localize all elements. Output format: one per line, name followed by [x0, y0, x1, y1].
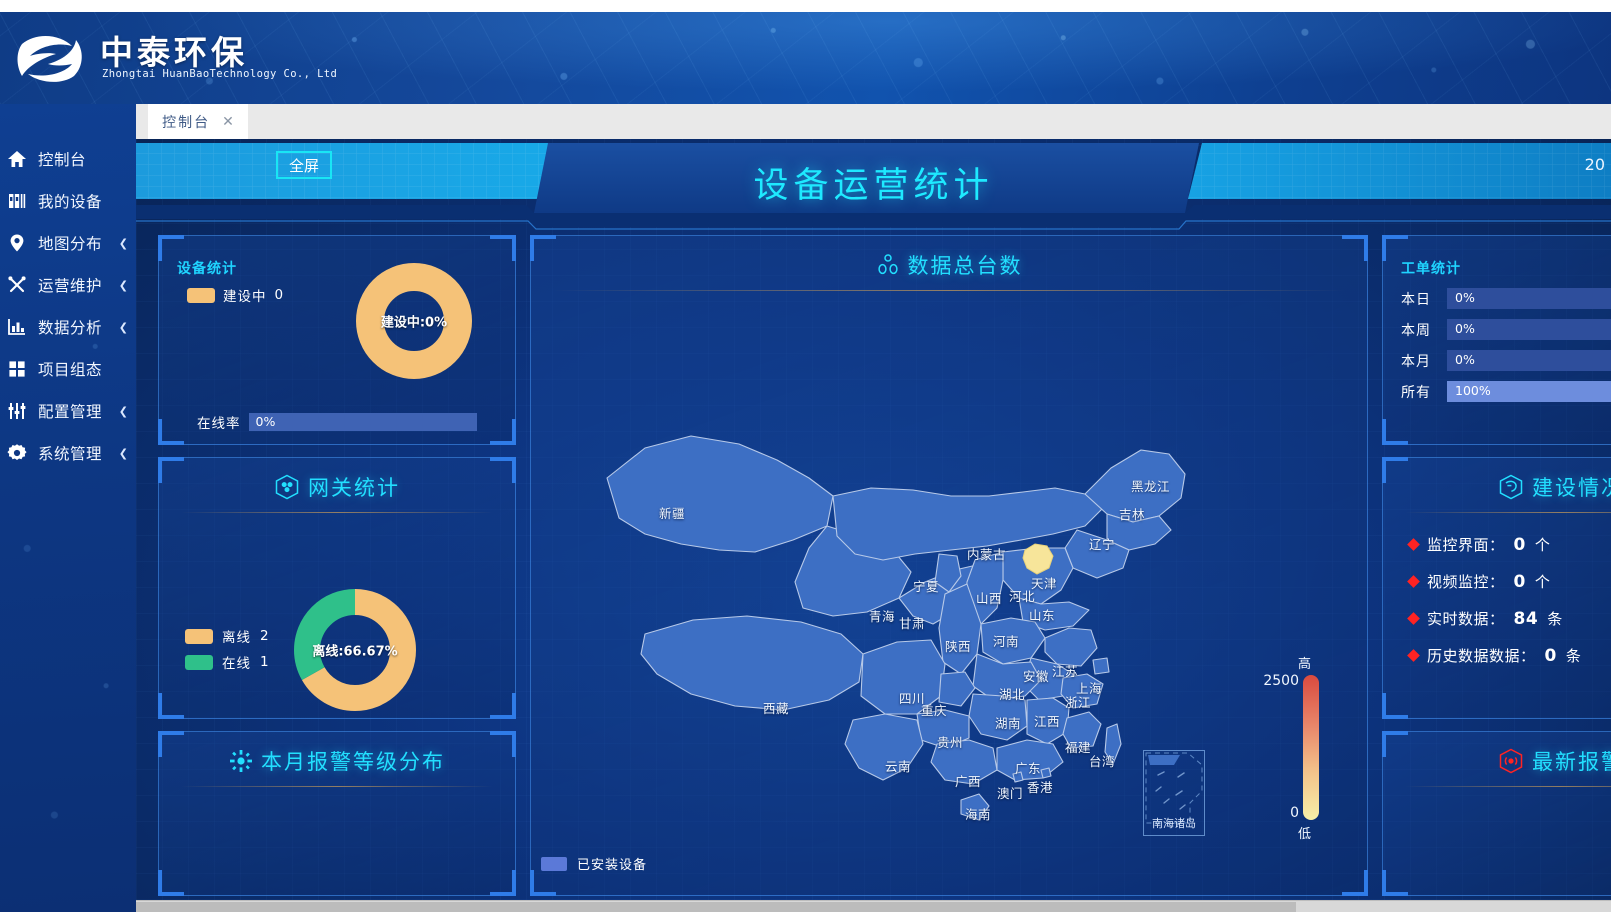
sidebar-item-ops-maintenance[interactable]: 运营维护 ❮ — [0, 264, 136, 306]
china-map-area[interactable]: 新疆黑龙江吉林辽宁内蒙古天津宁夏山西河北青海甘肃山东河南陕西安徽江苏上海西藏四川… — [531, 288, 1367, 895]
build-item-unit: 条 — [1566, 645, 1582, 666]
scale-low-label: 低 — [1298, 823, 1311, 842]
latest-alarm-panel: 最新报警 — [1382, 731, 1611, 896]
build-item: 实时数据： 84 条 — [1409, 608, 1581, 629]
scale-max-value: 2500 — [1263, 673, 1299, 689]
diamond-bullet-icon — [1407, 649, 1420, 662]
legend-label: 在线 — [222, 652, 251, 672]
chevron-icon: ❮ — [119, 279, 128, 292]
home-icon — [6, 148, 28, 170]
scale-gradient-bar — [1303, 675, 1319, 820]
tab-strip: ☰ 控制台 ✕ — [136, 104, 1611, 139]
chevron-icon: ❮ — [119, 321, 128, 334]
grid-icon — [6, 358, 28, 380]
header-banner-graphic — [136, 143, 1611, 231]
sidebar-item-data-analysis[interactable]: 数据分析 ❮ — [0, 306, 136, 348]
close-icon[interactable]: ✕ — [222, 114, 234, 130]
nanhai-inset-label: 南海诸岛 — [1144, 815, 1204, 831]
corner-decoration — [1382, 693, 1408, 719]
sidebar-label: 运营维护 — [38, 274, 109, 296]
work-order-row[interactable]: 本日 0% — [1401, 288, 1611, 309]
corner-decoration — [158, 731, 184, 757]
sidebar-label: 控制台 — [38, 148, 109, 170]
nanhai-inset: 南海诸岛 — [1143, 750, 1205, 836]
gear-icon — [6, 442, 28, 464]
scale-high-label: 高 — [1298, 653, 1311, 672]
work-order-title: 工单统计 — [1401, 258, 1611, 278]
map-panel: 数据总台数 — [530, 235, 1368, 896]
legend-value: 0 — [275, 287, 285, 303]
online-rate-label: 在线率 — [197, 412, 241, 432]
sidebar-label: 系统管理 — [38, 442, 109, 464]
work-order-panel: 工单统计 本日 0% 本周 0% 本月 0% 所有 — [1382, 235, 1611, 445]
diamond-bullet-icon — [1407, 575, 1420, 588]
diamond-bullet-icon — [1407, 538, 1420, 551]
online-rate-value: 0% — [256, 414, 276, 429]
sidebar-label: 我的设备 — [38, 190, 109, 212]
build-item-unit: 个 — [1535, 534, 1551, 555]
online-rate-bar: 0% — [249, 413, 477, 431]
device-donut-chart[interactable]: 建设中:0% — [355, 262, 473, 380]
corner-decoration — [1382, 457, 1408, 483]
tools-icon — [6, 274, 28, 296]
build-item-unit: 条 — [1547, 608, 1563, 629]
legend-value: 1 — [260, 654, 270, 670]
sliders-icon — [6, 400, 28, 422]
gateway-panel-title: 网关统计 — [308, 472, 400, 502]
tab-console[interactable]: 控制台 ✕ — [148, 104, 248, 139]
work-order-key: 本月 — [1401, 351, 1439, 371]
corner-decoration — [490, 457, 516, 483]
sidebar-item-map-distribution[interactable]: 地图分布 ❮ — [0, 222, 136, 264]
work-order-key: 所有 — [1401, 382, 1439, 402]
alarm-level-title-row: 本月报警等级分布 — [159, 732, 515, 776]
legend-item[interactable]: 离线 2 — [185, 626, 270, 646]
map-panel-title: 数据总台数 — [908, 250, 1023, 280]
legend-color-chip — [185, 629, 213, 644]
sidebar-item-my-devices[interactable]: 我的设备 ❮ — [0, 180, 136, 222]
sidebar: 控制台 ❮ 我的设备 ❮ 地图分布 ❮ 运营维护 ❮ 数据分析 ❮ 项目组态 — [0, 104, 136, 912]
corner-decoration — [490, 693, 516, 719]
work-order-value: 0% — [1455, 352, 1475, 367]
work-order-key: 本日 — [1401, 289, 1439, 309]
legend-value: 2 — [260, 628, 270, 644]
chevron-icon: ❮ — [119, 405, 128, 418]
corner-decoration — [158, 693, 184, 719]
sidebar-item-system-management[interactable]: 系统管理 ❮ — [0, 432, 136, 474]
alarm-level-panel: 本月报警等级分布 — [158, 731, 516, 896]
title-divider — [1405, 786, 1611, 787]
build-item-value: 0 — [1545, 646, 1557, 666]
work-order-header: 工单统计 本日 0% 本周 0% 本月 0% 所有 — [1401, 258, 1611, 402]
corner-decoration — [530, 235, 556, 261]
title-divider — [1405, 512, 1611, 513]
wave-leaf-logo-icon — [14, 26, 92, 88]
corner-decoration — [490, 731, 516, 757]
device-statistics-panel: 设备统计 建设中 0 建设中:0% 在线率 0% — [158, 235, 516, 445]
map-color-scale: 高 2500 0 低 — [1257, 653, 1357, 843]
corner-decoration — [158, 870, 184, 896]
title-divider — [181, 512, 493, 513]
device-stats-title: 设备统计 — [177, 258, 284, 278]
online-rate-row: 在线率 0% — [197, 412, 477, 432]
corner-decoration — [158, 419, 184, 445]
chevron-icon: ❮ — [119, 237, 128, 250]
corner-decoration — [490, 235, 516, 261]
build-item: 视频监控： 0 个 — [1409, 571, 1581, 592]
build-item: 监控界面： 0 个 — [1409, 534, 1581, 555]
build-item-label: 历史数据数据： — [1427, 645, 1536, 666]
corner-decoration — [490, 419, 516, 445]
build-panel-title: 建设情况 — [1532, 472, 1611, 502]
gateway-panel-title-row: 网关统计 — [159, 458, 515, 502]
work-order-bar: 100% — [1447, 381, 1611, 402]
sidebar-label: 配置管理 — [38, 400, 109, 422]
people-icon — [876, 253, 900, 277]
build-status-panel: 建设情况 监控界面： 0 个 视频监控： 0 个 实时数据： 84 条 — [1382, 457, 1611, 719]
horizontal-scrollbar[interactable] — [136, 900, 1611, 912]
sidebar-item-config-management[interactable]: 配置管理 ❮ — [0, 390, 136, 432]
gateway-donut-chart[interactable]: 离线:66.67% — [289, 584, 421, 716]
map-legend-label: 已安装设备 — [577, 854, 647, 873]
map-panel-title-row: 数据总台数 — [531, 236, 1367, 280]
device-icon — [6, 190, 28, 212]
build-panel-title-row: 建设情况 — [1383, 458, 1611, 502]
brand-name-en: Zhongtai HuanBaoTechnology Co., Ltd — [102, 68, 337, 80]
work-order-bar: 0% — [1447, 350, 1611, 371]
legend-color-chip — [187, 288, 215, 303]
work-order-value: 0% — [1455, 321, 1475, 336]
donut-center-label: 离线:66.67% — [289, 641, 421, 660]
work-order-value: 0% — [1455, 290, 1475, 305]
legend-item[interactable]: 建设中 0 — [177, 285, 284, 305]
scrollbar-thumb[interactable] — [136, 902, 1296, 912]
chevron-icon: ❮ — [119, 447, 128, 460]
build-item-value: 0 — [1514, 572, 1526, 592]
latest-alarm-title-row: 最新报警 — [1383, 732, 1611, 776]
build-item-label: 监控界面： — [1427, 534, 1505, 555]
corner-decoration — [1342, 235, 1368, 261]
gateway-legend: 离线 2 在线 1 — [185, 626, 270, 678]
work-order-row[interactable]: 本月 0% — [1401, 350, 1611, 371]
build-item-unit: 个 — [1535, 571, 1551, 592]
work-order-value: 100% — [1455, 383, 1491, 398]
build-item-label: 视频监控： — [1427, 571, 1505, 592]
sidebar-label: 地图分布 — [38, 232, 109, 254]
map-legend: 已安装设备 — [541, 854, 647, 873]
legend-label: 离线 — [222, 626, 251, 646]
browser-top-strip — [0, 0, 1611, 12]
company-logo: 中泰环保 Zhongtai HuanBaoTechnology Co., Ltd — [14, 26, 337, 88]
diamond-bullet-icon — [1407, 612, 1420, 625]
device-stats-header: 设备统计 建设中 0 — [177, 258, 284, 305]
build-item-value: 0 — [1514, 535, 1526, 555]
alarm-burst-icon — [229, 749, 253, 773]
tab-label: 控制台 — [162, 112, 210, 132]
work-order-row[interactable]: 本周 0% — [1401, 319, 1611, 340]
build-list: 监控界面： 0 个 视频监控： 0 个 实时数据： 84 条 历史数据数据： 0… — [1409, 534, 1581, 682]
build-item-value: 84 — [1514, 609, 1539, 629]
sidebar-label: 项目组态 — [38, 358, 109, 380]
latest-alarm-title: 最新报警 — [1532, 746, 1611, 776]
work-order-row[interactable]: 所有 100% — [1401, 381, 1611, 402]
brand-name-cn: 中泰环保 — [100, 34, 337, 72]
corner-decoration — [1382, 419, 1408, 445]
legend-color-chip — [541, 857, 567, 871]
work-order-key: 本周 — [1401, 320, 1439, 340]
hex-alarm-icon — [1498, 748, 1524, 774]
hex-gateway-icon — [274, 474, 300, 500]
corner-decoration — [490, 870, 516, 896]
header-datetime: 20 — [1585, 155, 1605, 174]
fullscreen-button[interactable]: 全屏 — [276, 151, 332, 179]
donut-center-label: 建设中:0% — [355, 312, 473, 331]
title-divider — [181, 786, 493, 787]
scale-min-value: 0 — [1290, 805, 1299, 821]
dashboard-canvas: 设备运营统计 20 全屏 设备统计 建设中 0 建设中:0% 在线率 0% — [136, 139, 1611, 900]
hex-build-icon — [1498, 474, 1524, 500]
corner-decoration — [1382, 731, 1408, 757]
build-item-label: 实时数据： — [1427, 608, 1505, 629]
legend-label: 建设中 — [223, 285, 267, 305]
corner-decoration — [158, 457, 184, 483]
alarm-level-title: 本月报警等级分布 — [261, 746, 445, 776]
gateway-statistics-panel: 网关统计 离线 2 在线 1 离线:66.67% — [158, 457, 516, 719]
bar-chart-icon — [6, 316, 28, 338]
work-order-bar: 0% — [1447, 319, 1611, 340]
company-banner: 中泰环保 Zhongtai HuanBaoTechnology Co., Ltd — [0, 12, 1611, 104]
sidebar-item-console[interactable]: 控制台 ❮ — [0, 138, 136, 180]
build-item: 历史数据数据： 0 条 — [1409, 645, 1581, 666]
work-order-bar: 0% — [1447, 288, 1611, 309]
sidebar-label: 数据分析 — [38, 316, 109, 338]
legend-item[interactable]: 在线 1 — [185, 652, 270, 672]
corner-decoration — [1382, 870, 1408, 896]
map-pin-icon — [6, 232, 28, 254]
sidebar-item-project-config[interactable]: 项目组态 ❮ — [0, 348, 136, 390]
legend-color-chip — [185, 655, 213, 670]
